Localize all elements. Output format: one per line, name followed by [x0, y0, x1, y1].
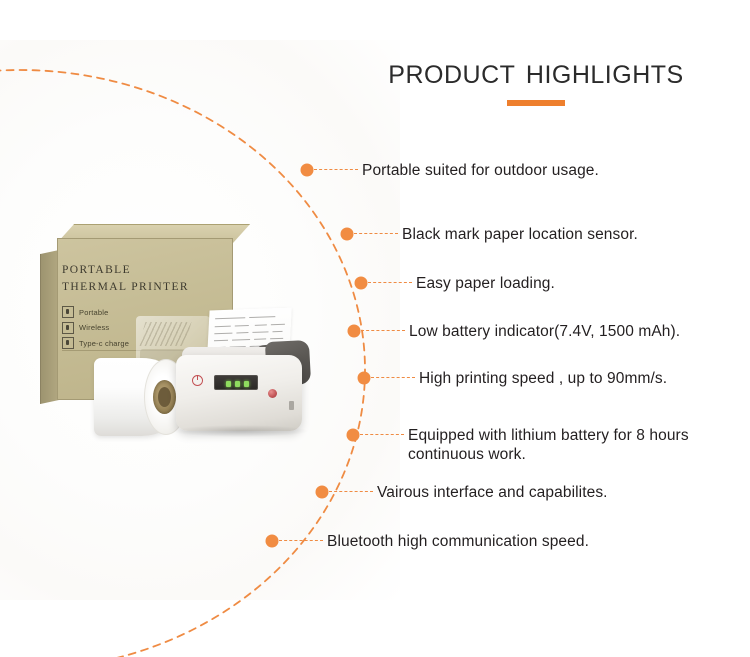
feature-item-black-mark: Black mark paper location sensor.	[402, 225, 638, 244]
leader-line	[279, 540, 323, 541]
receipt-text-line	[270, 338, 283, 340]
feature-label: Easy paper loading.	[416, 274, 555, 293]
usb-c-icon	[62, 337, 74, 349]
receipt-text-line	[215, 317, 245, 319]
leader-line	[314, 169, 358, 170]
title-underline	[507, 100, 565, 106]
box-title-line1: PORTABLE	[62, 262, 212, 279]
wireless-icon	[62, 322, 74, 334]
feature-label: Bluetooth high communication speed.	[327, 532, 589, 551]
box-feature-label: Portable	[79, 308, 109, 317]
feature-item-bluetooth: Bluetooth high communication speed.	[327, 532, 589, 551]
feature-label: Portable suited for outdoor usage.	[362, 161, 599, 180]
leader-line	[368, 282, 412, 283]
feature-item-low-battery: Low battery indicator(7.4V, 1500 mAh).	[409, 322, 680, 341]
leader-line	[360, 434, 404, 435]
receipt-text-line	[235, 325, 249, 327]
status-button	[268, 389, 277, 398]
box-feature-label: Wireless	[79, 323, 109, 332]
led-indicator	[226, 381, 231, 387]
page-title: Product Highlights	[336, 53, 736, 89]
printer-shadow	[174, 425, 308, 437]
leader-line	[361, 330, 405, 331]
led-indicator	[235, 381, 240, 387]
feature-label: Vairous interface and capabilites.	[377, 483, 608, 502]
feature-dot-portable[interactable]	[301, 164, 314, 177]
feature-label: High printing speed , up to 90mm/s.	[419, 369, 667, 388]
box-title-line2: THERMAL PRINTER	[62, 279, 212, 296]
feature-item-print-speed: High printing speed , up to 90mm/s.	[419, 369, 667, 388]
feature-label: Black mark paper location sensor.	[402, 225, 638, 244]
feature-dot-lithium-battery[interactable]	[347, 429, 360, 442]
usb-port	[289, 401, 294, 410]
box-title: PORTABLE THERMAL PRINTER	[62, 262, 212, 295]
receipt-text-line	[252, 331, 268, 333]
receipt-text-line	[271, 324, 285, 326]
feature-item-paper-loading: Easy paper loading.	[416, 274, 555, 293]
feature-item-interfaces: Vairous interface and capabilites.	[377, 483, 608, 502]
printer-body	[176, 355, 302, 431]
receipt-text-line	[236, 332, 248, 334]
feature-item-portable: Portable suited for outdoor usage.	[362, 161, 599, 180]
leader-line	[354, 233, 398, 234]
receipt-text-line	[214, 340, 228, 342]
leader-line	[371, 377, 415, 378]
feature-dot-black-mark[interactable]	[341, 228, 354, 241]
feature-dot-paper-loading[interactable]	[355, 277, 368, 290]
led-indicator	[244, 381, 249, 387]
feature-dot-low-battery[interactable]	[348, 325, 361, 338]
thermal-printer	[170, 313, 322, 443]
feature-dot-print-speed[interactable]	[358, 372, 371, 385]
page-title-block: Product Highlights	[336, 53, 736, 106]
product-photo: PORTABLE THERMAL PRINTER Portable Wirele…	[18, 215, 328, 450]
feature-dot-bluetooth[interactable]	[266, 535, 279, 548]
printer-led-panel	[214, 375, 258, 390]
receipt-text-line	[272, 331, 282, 333]
product-highlights-page: Product Highlights PORTABLE THERMAL PRIN…	[0, 0, 750, 657]
box-feature-label: Type-c charge	[79, 339, 129, 348]
receipt-text-line	[232, 339, 250, 341]
receipt-text-line	[249, 316, 275, 318]
feature-label: Equipped with lithium battery for 8 hour…	[408, 426, 689, 465]
receipt-text-line	[255, 324, 267, 326]
receipt-text-line	[214, 333, 232, 335]
feature-dot-interfaces[interactable]	[316, 486, 329, 499]
feature-item-lithium-battery: Equipped with lithium battery for 8 hour…	[408, 426, 689, 465]
receipt-text-line	[254, 338, 266, 340]
power-icon	[192, 375, 203, 386]
feature-label: Low battery indicator(7.4V, 1500 mAh).	[409, 322, 680, 341]
receipt-text-line	[215, 326, 231, 328]
battery-icon	[62, 306, 74, 318]
leader-line	[329, 491, 373, 492]
